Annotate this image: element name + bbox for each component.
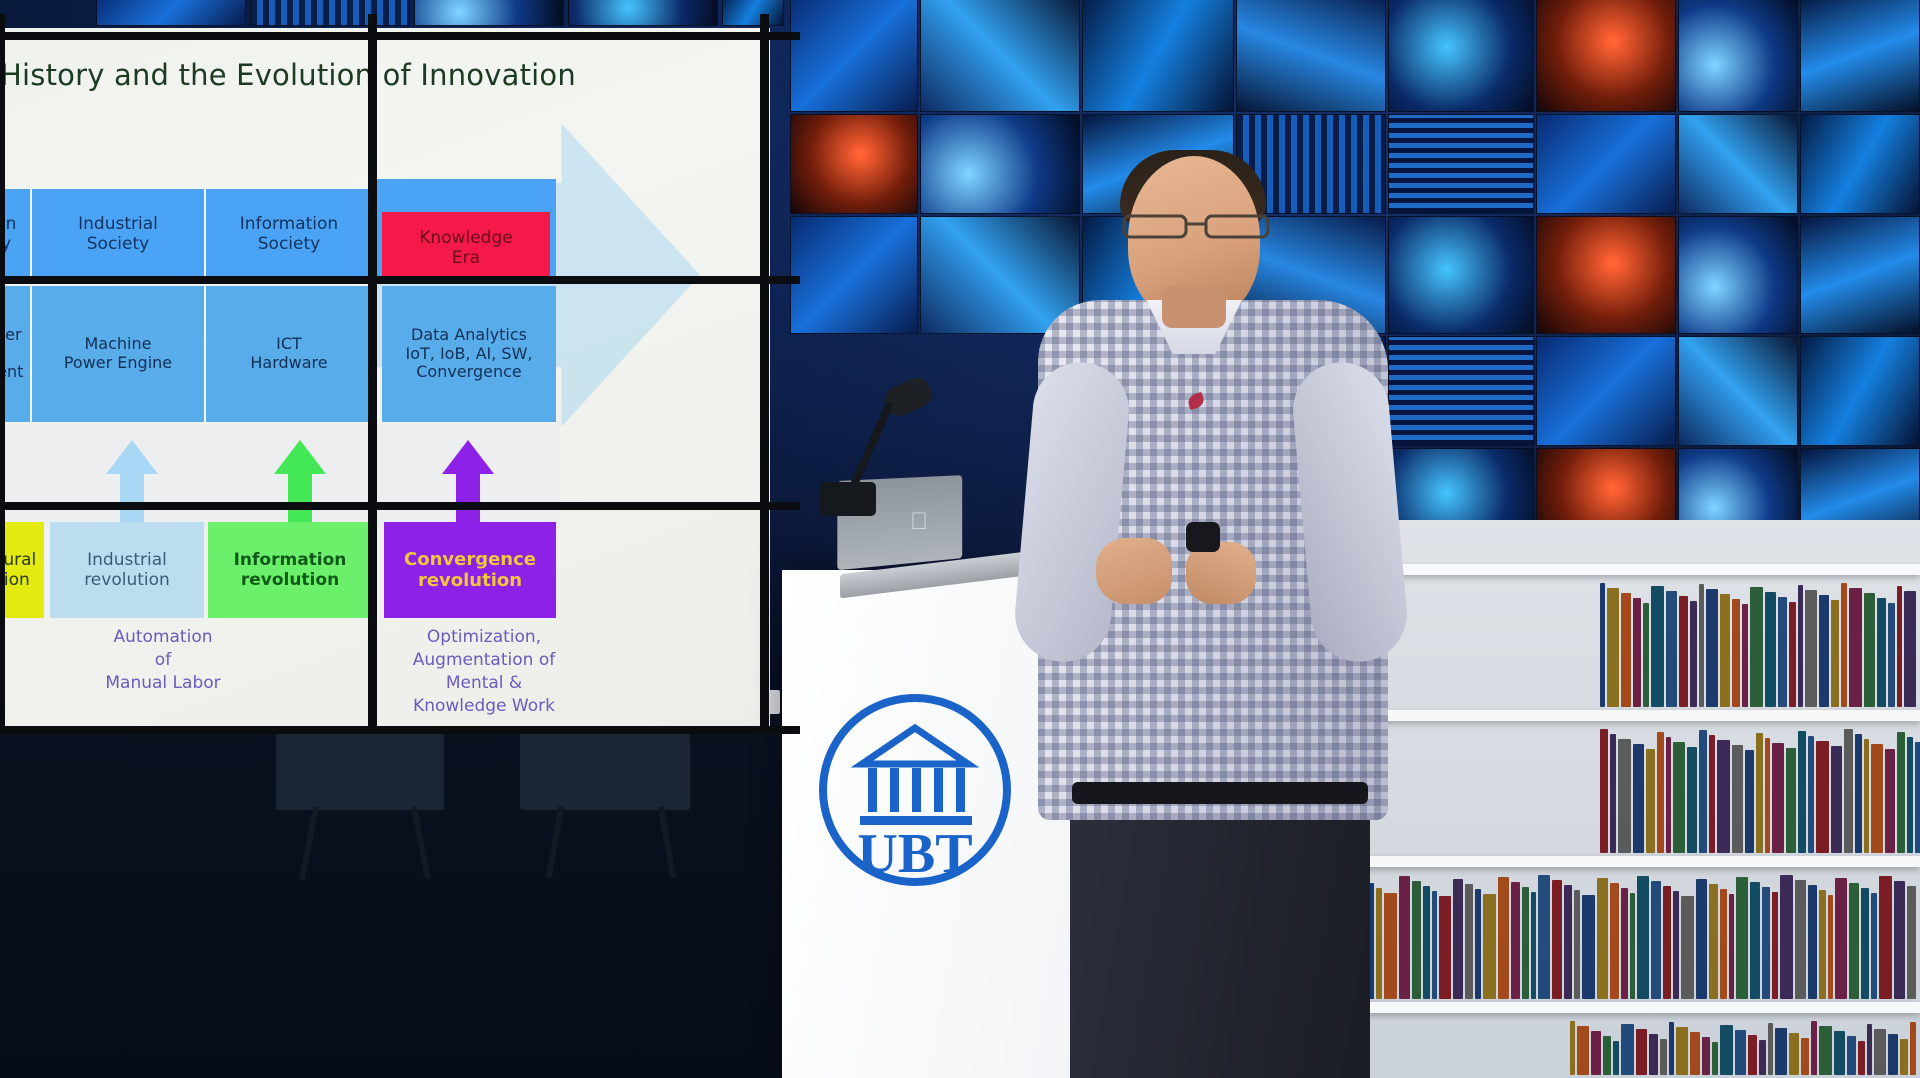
chair-left: [276, 728, 444, 810]
video-wall-tile: [790, 0, 918, 112]
book: [1888, 603, 1895, 707]
book: [1765, 738, 1770, 853]
book: [1762, 887, 1770, 999]
video-wall-tile: [1236, 0, 1386, 112]
book: [1811, 1021, 1817, 1075]
society-cell-information-label: Information Society: [240, 214, 338, 254]
book: [1897, 732, 1905, 853]
book: [1867, 1024, 1872, 1075]
book: [1894, 881, 1905, 999]
book: [1646, 749, 1655, 853]
book: [1676, 1027, 1688, 1075]
tech-cell-machine: Machine Power Engine: [32, 286, 204, 422]
book: [1819, 595, 1829, 707]
tech-cell-ict: ICT Hardware: [206, 286, 372, 422]
book: [1453, 879, 1463, 999]
book: [1756, 733, 1763, 853]
book: [1633, 598, 1641, 707]
book: [1709, 884, 1718, 999]
screen-bezel-horizontal-top: [0, 32, 800, 40]
video-wall-tile: [790, 216, 918, 334]
book: [1808, 885, 1817, 999]
book: [1522, 887, 1529, 999]
book: [1666, 737, 1671, 853]
book: [1798, 731, 1806, 853]
video-wall-tile: [1800, 0, 1920, 112]
society-cell-knowledge-label: Knowledge Era: [419, 228, 512, 268]
book: [1834, 1031, 1845, 1075]
society-cell-knowledge: Knowledge Era: [382, 212, 550, 284]
book: [1531, 892, 1536, 999]
book: [1831, 600, 1839, 707]
book: [1907, 737, 1913, 853]
book: [1621, 593, 1631, 707]
book: [1636, 1029, 1647, 1075]
book: [1498, 877, 1509, 999]
microphone-base: [820, 482, 876, 516]
book: [1778, 597, 1787, 707]
revolution-cell-convergence-label: Convergence revolution: [404, 549, 536, 591]
book: [1687, 747, 1697, 853]
book: [1600, 729, 1608, 853]
revolution-cell-industrial-label: Industrial revolution: [84, 550, 170, 590]
book: [1888, 1034, 1898, 1075]
society-cell-information: Information Society: [206, 189, 372, 279]
book: [1849, 883, 1859, 999]
book: [1690, 601, 1697, 707]
book: [1732, 599, 1740, 707]
book: [1702, 1037, 1710, 1075]
book: [1874, 1029, 1886, 1075]
book: [1610, 734, 1616, 853]
revolution-cell-agricultural: Agricultural revolution: [0, 522, 44, 618]
book: [1835, 878, 1847, 999]
book: [1649, 1034, 1658, 1075]
screen-bezel-horizontal-bottom: [0, 726, 800, 734]
book: [1750, 587, 1763, 707]
society-cell-industrial-label: Industrial Society: [78, 214, 158, 254]
book: [1717, 740, 1730, 853]
revolution-cell-convergence: Convergence revolution: [384, 522, 556, 618]
book: [1720, 594, 1730, 707]
book: [1600, 583, 1605, 707]
screen-bezel-horizontal-low: [0, 502, 800, 510]
book: [1669, 1022, 1674, 1075]
book: [1657, 732, 1664, 853]
glasses-icon: [1122, 212, 1270, 240]
book: [1735, 1030, 1746, 1075]
book: [1871, 744, 1883, 853]
chair-right: [520, 722, 690, 810]
book: [1789, 602, 1796, 707]
book: [1696, 879, 1707, 999]
video-wall-tile: [1082, 0, 1234, 112]
video-wall-tile: [1800, 336, 1920, 446]
book: [1759, 1040, 1766, 1075]
book: [1798, 585, 1803, 707]
book: [1904, 591, 1916, 707]
book: [1831, 746, 1842, 853]
book: [1577, 1026, 1589, 1075]
book: [1439, 896, 1451, 999]
revolution-cell-agricultural-label: Agricultural revolution: [0, 550, 36, 590]
book: [1900, 1039, 1908, 1075]
book: [1511, 882, 1520, 999]
presentation-slide: History and the Evolution of Innovation …: [0, 14, 800, 734]
book: [1750, 882, 1760, 999]
book: [1607, 588, 1619, 707]
scene-root: History and the Evolution of Innovation …: [0, 0, 1920, 1078]
book: [1795, 880, 1806, 999]
video-wall-tile: [1678, 216, 1798, 334]
tech-cell-data-analytics-label: Data Analytics IoT, IoB, AI, SW, Converg…: [405, 326, 532, 383]
book: [1816, 741, 1829, 853]
book: [1483, 894, 1496, 999]
book: [1805, 590, 1817, 707]
book: [1871, 893, 1877, 999]
presenter-belt: [1072, 782, 1368, 804]
book: [1673, 742, 1685, 853]
book: [1699, 730, 1707, 853]
revolution-cell-information-label: Information revolution: [234, 550, 347, 590]
video-wall-tile: [1678, 336, 1798, 446]
book: [1907, 886, 1916, 999]
tech-cell-ict-label: ICT Hardware: [250, 335, 327, 373]
book: [1660, 1039, 1667, 1075]
book: [1801, 1038, 1809, 1075]
screen-bezel-horizontal-mid: [0, 276, 800, 284]
book: [1828, 895, 1833, 999]
book: [1786, 748, 1796, 853]
book: [1736, 877, 1748, 999]
book: [1772, 743, 1784, 853]
book: [1745, 750, 1754, 853]
book: [1819, 890, 1826, 999]
book: [1720, 889, 1727, 999]
footnote-automation: Automation of Manual Labor: [38, 626, 288, 695]
video-wall-tile: [1678, 0, 1798, 112]
book: [1570, 1021, 1575, 1075]
book: [1729, 894, 1734, 999]
revolution-cell-industrial: Industrial revolution: [50, 522, 204, 618]
book: [1538, 875, 1550, 999]
ubt-logo-text: UBT: [857, 823, 972, 885]
video-wall-tile: [1678, 114, 1798, 214]
book: [1465, 884, 1473, 999]
book: [1475, 889, 1481, 999]
presenter-watch: [1186, 522, 1220, 552]
tech-cell-machine-label: Machine Power Engine: [64, 335, 172, 373]
video-wall-tile: [920, 0, 1080, 112]
book: [1613, 1041, 1619, 1075]
book: [1877, 598, 1886, 707]
book: [1621, 888, 1628, 999]
book: [1681, 896, 1694, 999]
book: [1597, 878, 1608, 999]
book: [1844, 729, 1853, 853]
book: [1633, 744, 1644, 853]
book: [1630, 893, 1635, 999]
video-wall-tile: [1800, 216, 1920, 334]
book: [1789, 1033, 1799, 1075]
book: [1591, 1031, 1601, 1075]
book: [1432, 891, 1437, 999]
book: [1582, 895, 1595, 999]
book: [1864, 593, 1875, 707]
book: [1897, 586, 1902, 707]
society-cell-industrial: Industrial Society: [32, 189, 204, 279]
slide-title: History and the Evolution of Innovation: [0, 58, 576, 92]
book: [1637, 876, 1649, 999]
book: [1706, 589, 1718, 707]
tech-cell-data-analytics: Data Analytics IoT, IoB, AI, SW, Converg…: [382, 286, 556, 422]
video-wall-tile: [1388, 0, 1534, 112]
projection-screen-array: History and the Evolution of Innovation …: [0, 14, 800, 734]
book: [1621, 1024, 1634, 1075]
book: [1690, 1032, 1700, 1075]
book: [1712, 1042, 1718, 1075]
book: [1651, 586, 1664, 707]
book: [1564, 885, 1572, 999]
screen-bezel-vertical-1: [0, 14, 5, 734]
book: [1841, 583, 1847, 707]
book: [1780, 875, 1793, 999]
presenter: [1010, 150, 1430, 1078]
book: [1775, 1028, 1787, 1075]
video-wall-tile: [1536, 336, 1676, 446]
book: [1765, 592, 1776, 707]
video-wall-tile: [1536, 216, 1676, 334]
video-wall-tile: [1536, 114, 1676, 214]
book: [1861, 888, 1869, 999]
book: [1720, 1025, 1733, 1075]
book: [1879, 876, 1892, 999]
book: [1610, 883, 1619, 999]
video-wall-tile: [790, 114, 918, 214]
revolution-cell-information: Information revolution: [208, 522, 372, 618]
screen-bezel-vertical-2: [368, 14, 377, 734]
book: [1552, 880, 1562, 999]
book: [1603, 1036, 1611, 1075]
book: [1849, 588, 1862, 707]
book: [1847, 1036, 1856, 1075]
book: [1574, 890, 1580, 999]
ubt-logo: UBT: [810, 690, 1020, 890]
book: [1915, 742, 1920, 853]
book: [1864, 739, 1869, 853]
book: [1855, 734, 1862, 853]
video-wall-tile: [1800, 114, 1920, 214]
screen-bezel-vertical-3: [760, 14, 769, 734]
book: [1673, 891, 1679, 999]
book: [1618, 739, 1631, 853]
book: [1643, 603, 1649, 707]
book: [1666, 591, 1677, 707]
book: [1768, 1023, 1773, 1075]
book: [1808, 736, 1814, 853]
apple-logo-icon: : [910, 508, 932, 534]
presenter-neck: [1162, 286, 1226, 328]
book: [1679, 596, 1688, 707]
book: [1772, 892, 1778, 999]
book: [1651, 881, 1661, 999]
book: [1910, 1022, 1916, 1075]
footnote-optimization: Optimization, Augmentation of Mental & K…: [366, 626, 602, 718]
book: [1709, 735, 1715, 853]
book: [1748, 1035, 1757, 1075]
book: [1663, 886, 1671, 999]
book: [1885, 749, 1895, 853]
presenter-trousers: [1070, 790, 1370, 1078]
book: [1742, 604, 1748, 707]
video-wall-tile: [1536, 0, 1676, 112]
book: [1699, 584, 1704, 707]
book: [1858, 1041, 1865, 1075]
presenter-hand-left: [1096, 538, 1172, 604]
book: [1819, 1026, 1832, 1075]
book: [1732, 745, 1743, 853]
